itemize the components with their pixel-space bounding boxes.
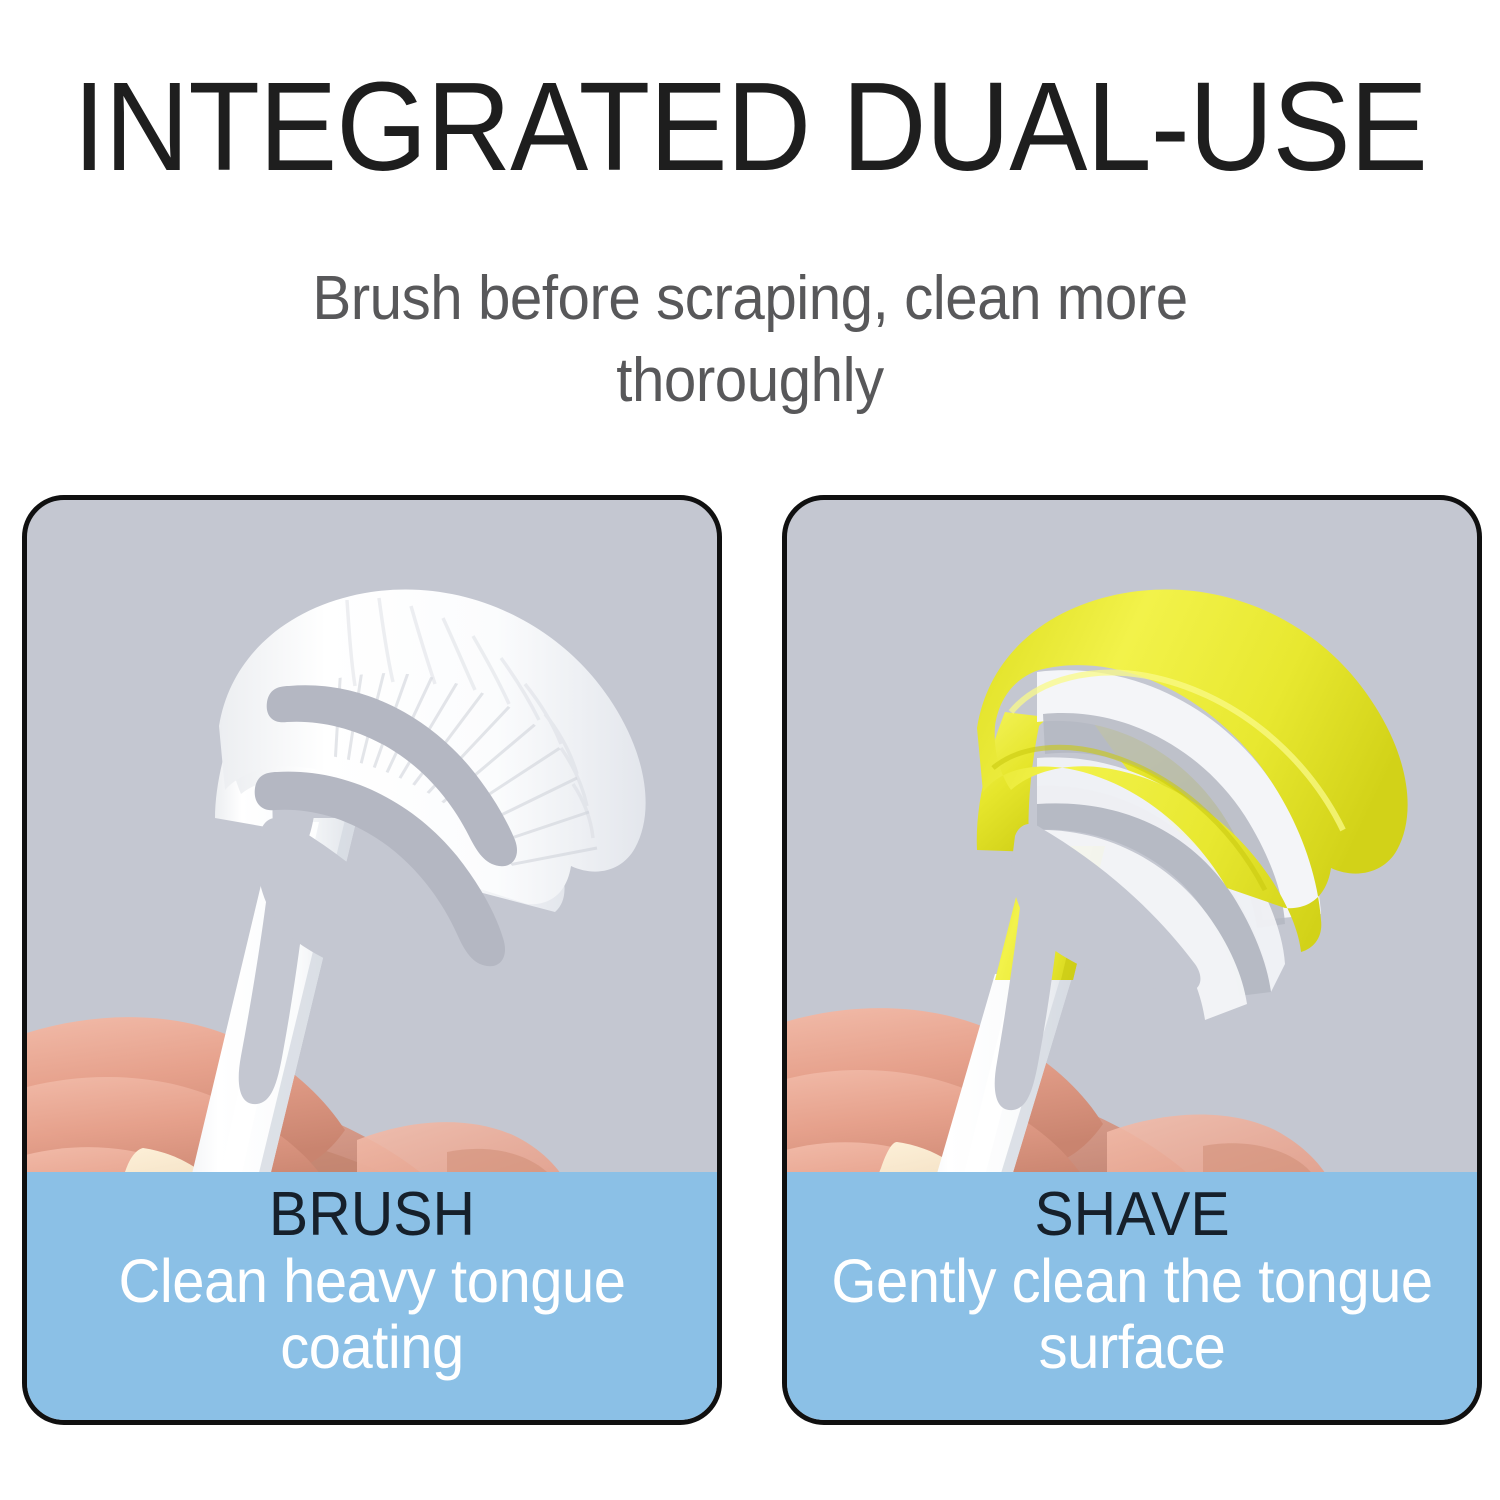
brush-caption-body: Clean heavy tongue coating (44, 1249, 700, 1381)
page-subtitle: Brush before scraping, clean more thorou… (280, 258, 1220, 423)
shave-caption-body: Gently clean the tongue surface (804, 1249, 1460, 1381)
page-title: INTEGRATED DUAL-USE (53, 64, 1448, 190)
brush-caption-title: BRUSH (44, 1182, 700, 1247)
brush-caption-band: BRUSH Clean heavy tongue coating (27, 1172, 717, 1420)
panel-brush: BRUSH Clean heavy tongue coating (22, 495, 722, 1425)
brush-head (219, 589, 646, 986)
shave-caption-band: SHAVE Gently clean the tongue surface (787, 1172, 1477, 1420)
panel-shave: SHAVE Gently clean the tongue surface (782, 495, 1482, 1425)
shave-caption-title: SHAVE (804, 1182, 1460, 1247)
